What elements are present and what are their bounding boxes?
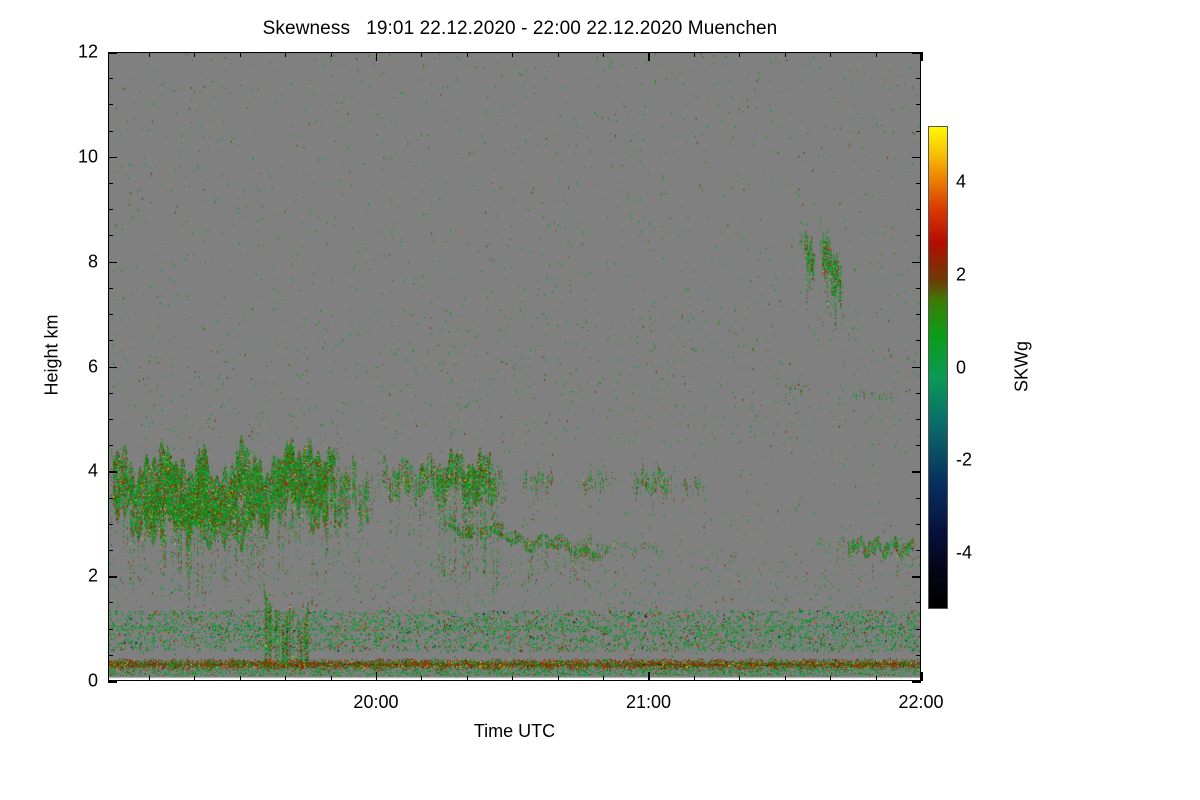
y-axis-minor-tick [108, 550, 113, 551]
page-title: Skewness 19:01 22.12.2020 - 22:00 22.12.… [0, 18, 1040, 40]
x-axis-minor-tick [603, 676, 604, 681]
x-axis-minor-tick [603, 52, 604, 57]
x-axis-minor-tick [331, 676, 332, 681]
y-axis-minor-tick [108, 314, 113, 315]
y-axis-major-tick [108, 262, 117, 264]
y-axis-tick-label: 12 [50, 42, 98, 63]
colorbar-gradient [928, 126, 948, 609]
x-axis-tick-label: 20:00 [353, 692, 398, 713]
y-axis-minor-tick [108, 419, 113, 420]
x-axis-major-tick [376, 672, 378, 681]
x-axis-minor-tick [149, 52, 150, 57]
y-axis-minor-tick [916, 288, 921, 289]
colorbar[interactable] [928, 126, 948, 609]
y-axis-minor-tick [108, 655, 113, 656]
heatmap-canvas [109, 53, 920, 680]
y-axis-major-tick [912, 157, 921, 159]
y-axis-minor-tick [916, 393, 921, 394]
y-axis-minor-tick [108, 131, 113, 132]
y-axis-minor-tick [916, 419, 921, 420]
y-axis-major-tick [912, 681, 921, 683]
x-axis-minor-tick [194, 52, 195, 57]
colorbar-tick-label: -2 [956, 450, 972, 471]
y-axis-minor-tick [916, 340, 921, 341]
x-axis-tick-label: 22:00 [898, 692, 943, 713]
y-axis-minor-tick [108, 340, 113, 341]
y-axis-minor-tick [916, 498, 921, 499]
x-axis-minor-tick [240, 676, 241, 681]
y-axis-minor-tick [916, 104, 921, 105]
x-axis-minor-tick [739, 52, 740, 57]
x-axis-title: Time UTC [395, 721, 635, 742]
y-axis-minor-tick [916, 131, 921, 132]
x-axis-minor-tick [694, 676, 695, 681]
y-axis-minor-tick [108, 445, 113, 446]
y-axis-major-tick [108, 471, 117, 473]
y-axis-tick-label: 2 [50, 566, 98, 587]
y-axis-minor-tick [916, 524, 921, 525]
x-axis-minor-tick [785, 52, 786, 57]
y-axis-minor-tick [916, 78, 921, 79]
y-axis-minor-tick [108, 288, 113, 289]
x-axis-minor-tick [512, 676, 513, 681]
x-axis-minor-tick [240, 52, 241, 57]
y-axis-minor-tick [108, 235, 113, 236]
x-axis-major-tick [648, 52, 650, 61]
y-axis-minor-tick [916, 602, 921, 603]
x-axis-minor-tick [876, 52, 877, 57]
y-axis-title: Height km [42, 335, 63, 395]
x-axis-major-tick [921, 52, 923, 61]
x-axis-minor-tick [558, 676, 559, 681]
y-axis-tick-label: 4 [50, 461, 98, 482]
y-axis-minor-tick [916, 209, 921, 210]
x-axis-minor-tick [694, 52, 695, 57]
y-axis-major-tick [108, 576, 117, 578]
x-axis-minor-tick [331, 52, 332, 57]
y-axis-minor-tick [108, 209, 113, 210]
heatmap-plot-area[interactable] [108, 52, 921, 681]
x-axis-major-tick [648, 672, 650, 681]
y-axis-major-tick [912, 52, 921, 54]
x-axis-minor-tick [421, 676, 422, 681]
x-axis-minor-tick [830, 676, 831, 681]
y-axis-minor-tick [916, 183, 921, 184]
x-axis-minor-tick [421, 52, 422, 57]
x-axis-minor-tick [739, 676, 740, 681]
x-axis-minor-tick [558, 52, 559, 57]
y-axis-minor-tick [108, 524, 113, 525]
x-axis-minor-tick [876, 676, 877, 681]
colorbar-tick-label: 4 [956, 171, 966, 192]
y-axis-tick-label: 0 [50, 671, 98, 692]
y-axis-minor-tick [108, 602, 113, 603]
x-axis-minor-tick [830, 52, 831, 57]
y-axis-minor-tick [108, 78, 113, 79]
y-axis-minor-tick [916, 445, 921, 446]
colorbar-tick-label: 2 [956, 264, 966, 285]
colorbar-tick-label: 0 [956, 357, 966, 378]
y-axis-tick-label: 8 [50, 251, 98, 272]
x-axis-minor-tick [285, 676, 286, 681]
y-axis-tick-label: 10 [50, 146, 98, 167]
y-axis-minor-tick [916, 314, 921, 315]
y-axis-major-tick [108, 157, 117, 159]
x-axis-minor-tick [467, 52, 468, 57]
y-axis-major-tick [108, 681, 117, 683]
x-axis-major-tick [376, 52, 378, 61]
colorbar-tick-label: -4 [956, 543, 972, 564]
colorbar-title: SKWg [1012, 336, 1033, 396]
y-axis-minor-tick [916, 629, 921, 630]
y-axis-major-tick [912, 262, 921, 264]
y-axis-minor-tick [108, 393, 113, 394]
y-axis-minor-tick [108, 104, 113, 105]
x-axis-minor-tick [194, 676, 195, 681]
y-axis-major-tick [108, 52, 117, 54]
x-axis-minor-tick [285, 52, 286, 57]
y-axis-minor-tick [916, 655, 921, 656]
y-axis-major-tick [912, 367, 921, 369]
y-axis-minor-tick [916, 235, 921, 236]
y-axis-major-tick [108, 367, 117, 369]
x-axis-minor-tick [467, 676, 468, 681]
x-axis-minor-tick [785, 676, 786, 681]
y-axis-minor-tick [108, 629, 113, 630]
x-axis-minor-tick [512, 52, 513, 57]
x-axis-minor-tick [149, 676, 150, 681]
y-axis-minor-tick [916, 550, 921, 551]
x-axis-major-tick [921, 672, 923, 681]
x-axis-tick-label: 21:00 [626, 692, 671, 713]
y-axis-major-tick [912, 471, 921, 473]
figure-root: Skewness 19:01 22.12.2020 - 22:00 22.12.… [0, 0, 1200, 800]
y-axis-major-tick [912, 576, 921, 578]
y-axis-minor-tick [108, 183, 113, 184]
y-axis-minor-tick [108, 498, 113, 499]
